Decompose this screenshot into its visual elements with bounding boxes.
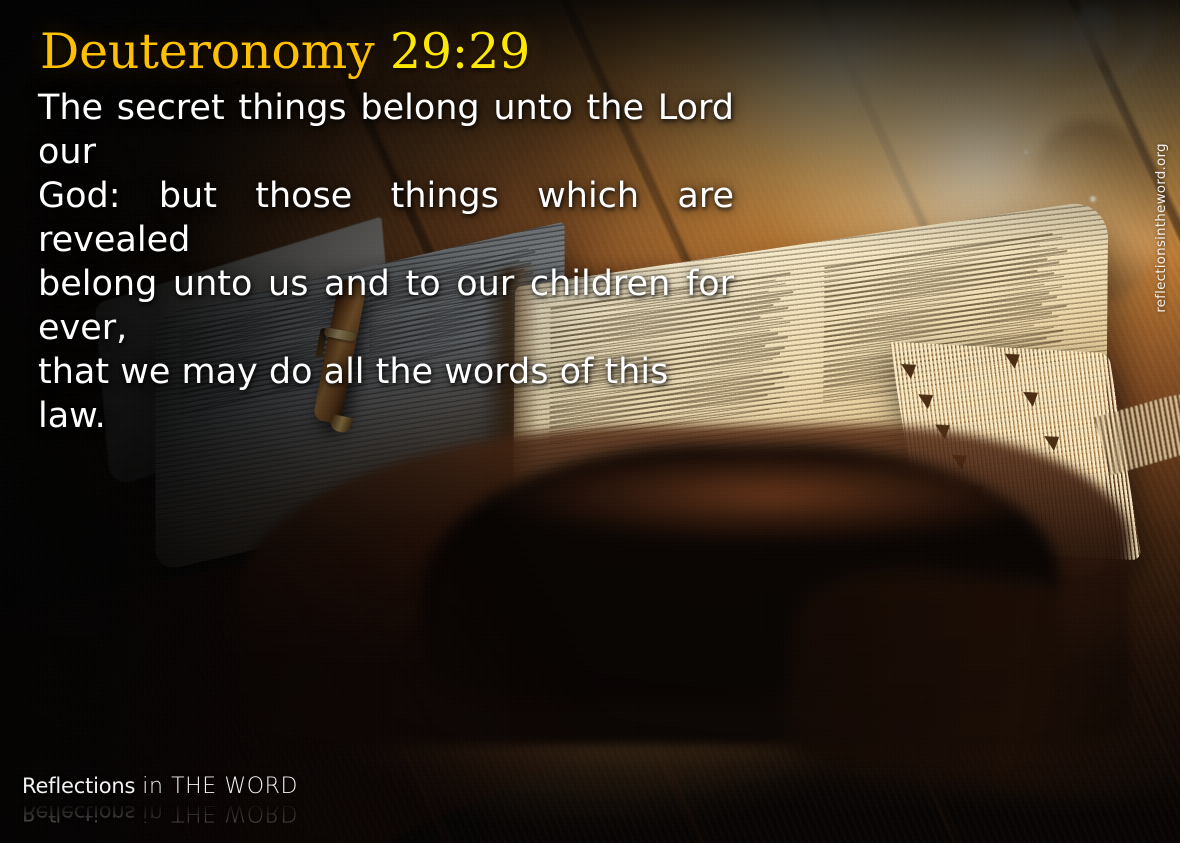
verse-reference-numbers: 29:29 (374, 23, 530, 80)
verse-reference: Deuteronomy 29:29 (40, 26, 530, 77)
verse-text: The secret things belong unto the Lord o… (38, 86, 734, 438)
verse-image-canvas: Deuteronomy 29:29 The secret things belo… (0, 0, 1180, 843)
brand-logo-word-2: in THE WORD (142, 774, 298, 799)
brand-logo-word-1: Reflections (22, 774, 135, 798)
brand-logo-text: Reflectionsin THE WORD (22, 774, 298, 799)
verse-line: The secret things belong unto the Lord o… (38, 86, 734, 174)
verse-line: God: but those things which are revealed (38, 174, 734, 262)
brand-logo: Reflectionsin THE WORD Reflectionsin THE… (22, 774, 298, 825)
text-overlay: Deuteronomy 29:29 The secret things belo… (0, 0, 1180, 843)
brand-logo-reflection-word-1: Reflections (22, 801, 135, 825)
brand-logo-reflection-word-2: in THE WORD (142, 800, 298, 825)
verse-line: that we may do all the words of this law… (38, 350, 734, 438)
brand-logo-reflection: Reflectionsin THE WORD (22, 800, 298, 825)
site-url-watermark: reflectionsintheword.org (1154, 140, 1178, 330)
site-url-text: reflectionsintheword.org (1153, 133, 1169, 323)
verse-reference-book: Deuteronomy (40, 23, 374, 80)
verse-line: belong unto us and to our children for e… (38, 262, 734, 350)
